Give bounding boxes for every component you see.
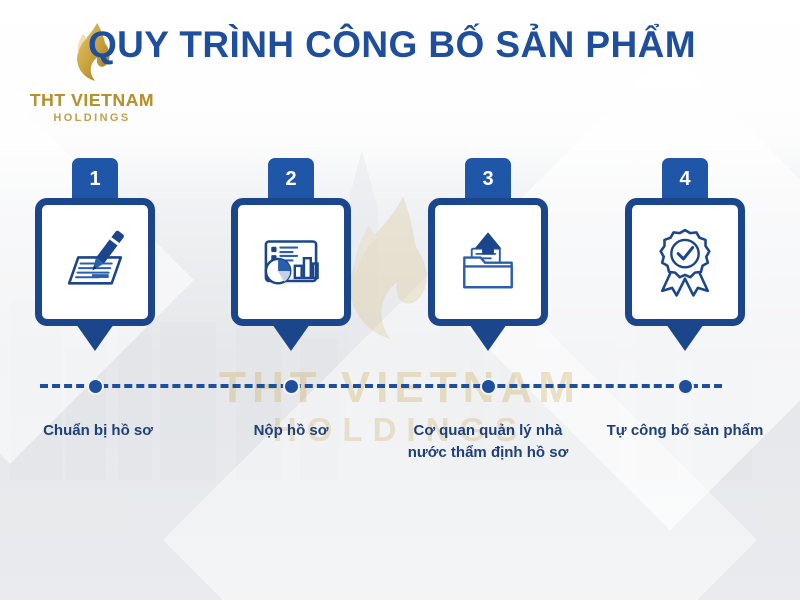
timeline-dot-2[interactable] (283, 378, 300, 395)
step-icon-box-1 (35, 198, 155, 326)
step-arrow-2 (272, 324, 310, 351)
step-arrow-4 (666, 324, 704, 351)
step-card-1[interactable]: 1 (15, 158, 175, 351)
award-ribbon-check-icon (647, 224, 723, 300)
step-caption-2: Nộp hồ sơ (186, 420, 396, 442)
step-icon-box-2 (231, 198, 351, 326)
folder-upload-icon (451, 225, 525, 299)
report-dashboard-chart-icon (253, 224, 329, 300)
step-caption-1: Chuẩn bị hồ sơ (0, 420, 203, 442)
timeline-dot-3[interactable] (480, 378, 497, 395)
timeline-dot-4[interactable] (677, 378, 694, 395)
process-steps: 1 (0, 0, 800, 600)
step-card-4[interactable]: 4 (605, 158, 765, 351)
step-arrow-1 (76, 324, 114, 351)
step-caption-3: Cơ quan quản lý nhà nước thẩm định hồ sơ (398, 420, 578, 464)
step-icon-box-4 (625, 198, 745, 326)
step-arrow-3 (469, 324, 507, 351)
timeline-dot-1[interactable] (87, 378, 104, 395)
timeline-track (40, 384, 722, 392)
document-with-pen-icon (57, 224, 133, 300)
step-card-3[interactable]: 3 (408, 158, 568, 351)
step-caption-4: Tự công bố sản phẩm (580, 420, 790, 442)
infographic-canvas: THT VIETNAM HOLDINGS THT VIETNAM HOLDING… (0, 0, 800, 600)
step-card-2[interactable]: 2 (211, 158, 371, 351)
step-icon-box-3 (428, 198, 548, 326)
